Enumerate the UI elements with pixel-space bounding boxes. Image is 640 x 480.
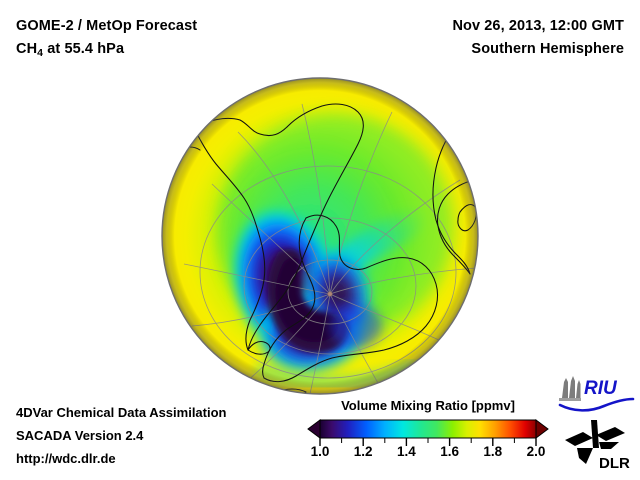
colorbar-tick-label: 1.6 (440, 444, 459, 459)
globe-limb-shading (162, 78, 478, 394)
footer-url: http://wdc.dlr.de (16, 451, 116, 466)
figure-subtitle-species: CH4 at 55.4 hPa (16, 41, 124, 59)
colorbar-tick-label: 1.8 (483, 444, 502, 459)
dlr-wordmark: DLR (599, 455, 630, 472)
globe-map (160, 76, 480, 396)
dlr-logo: DLR (563, 418, 635, 474)
figure-title: GOME-2 / MetOp Forecast (16, 18, 197, 34)
colorbar-minor-ticks (342, 438, 515, 443)
figure-datetime: Nov 26, 2013, 12:00 GMT (452, 18, 624, 34)
colorbar-gradient (320, 420, 536, 438)
riu-logo: RIU (556, 372, 636, 412)
figure-canvas: GOME-2 / MetOp Forecast CH4 at 55.4 hPa … (0, 0, 640, 480)
colorbar-title: Volume Mixing Ratio [ppmv] (306, 398, 550, 413)
footer-method: 4DVar Chemical Data Assimilation (16, 405, 227, 420)
colorbar-extend-min (308, 420, 320, 438)
riu-wordmark: RIU (584, 378, 618, 399)
species-prefix: CH (16, 41, 37, 57)
colorbar-tick-label: 1.0 (311, 444, 330, 459)
colorbar-tick-label: 1.2 (354, 444, 373, 459)
coastline-island-b (374, 391, 398, 394)
colorbar-tick-label: 1.4 (397, 444, 416, 459)
colorbar-tick-label: 2.0 (527, 444, 546, 459)
colorbar: Volume Mixing Ratio [ppmv] (306, 398, 550, 474)
footer-version: SACADA Version 2.4 (16, 428, 143, 443)
figure-region: Southern Hemisphere (471, 41, 624, 57)
colorbar-extend-max (536, 420, 548, 438)
riu-tower-icon (559, 376, 581, 401)
colorbar-tick-labels: 1.0 1.2 1.4 1.6 1.8 2.0 (306, 444, 550, 464)
species-level: at 55.4 hPa (43, 41, 124, 57)
coastline-africa-east (466, 144, 480, 160)
globe-svg (160, 76, 480, 396)
